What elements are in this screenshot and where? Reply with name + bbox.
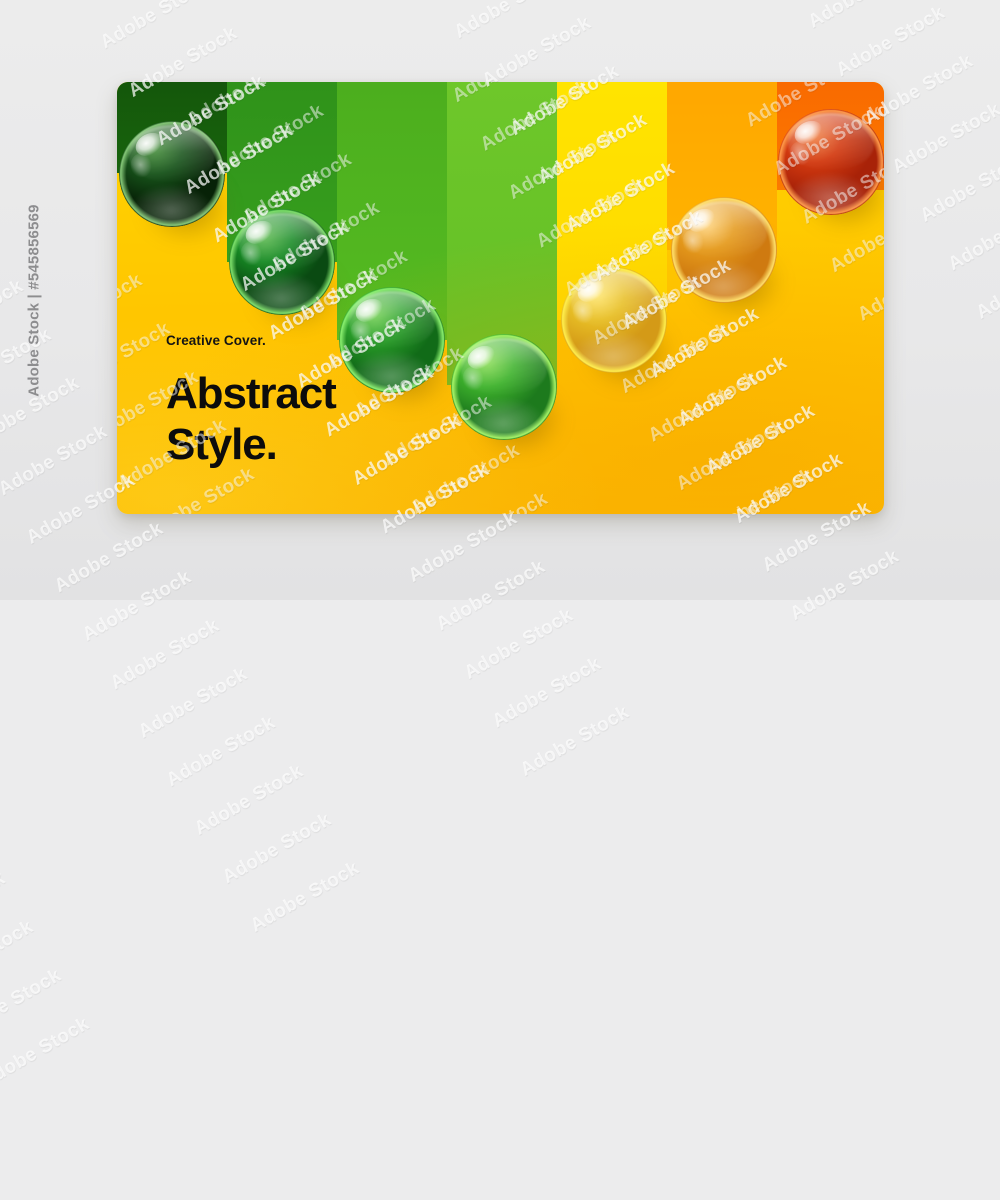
- watermark-text: Adobe Stock: [97, 0, 213, 54]
- watermark-text: Adobe Stock: [0, 1013, 93, 1093]
- watermark-text: Adobe Stock: [673, 416, 789, 496]
- sphere-7-red: [778, 109, 884, 215]
- watermark-text: Adobe Stock: [405, 508, 521, 588]
- watermark-text: Adobe Stock: [436, 488, 552, 514]
- watermark-text: Adobe Stock: [0, 868, 9, 948]
- headline-line-1: Abstract: [166, 369, 336, 418]
- watermark-text: Adobe Stock: [917, 148, 1000, 228]
- watermark-text: Adobe Stock: [787, 546, 903, 626]
- watermark-text: Adobe Stock: [451, 0, 567, 44]
- watermark-text: Adobe Stock: [142, 464, 258, 514]
- cover-text-block: Creative Cover. Abstract Style.: [166, 333, 336, 470]
- watermark-text: Adobe Stock: [117, 270, 147, 350]
- watermark-text: Adobe Stock: [945, 196, 1000, 276]
- sphere-highlight-bounce: [792, 166, 873, 211]
- watermark-text: Adobe Stock: [51, 518, 167, 598]
- watermark-text: Adobe Stock: [882, 295, 884, 375]
- watermark-text: Adobe Stock: [889, 99, 1000, 179]
- sphere-4-light-green: [451, 334, 557, 440]
- sphere-highlight-bounce: [133, 178, 214, 223]
- sphere-highlight-bounce: [243, 266, 324, 311]
- sphere-ball: [778, 109, 884, 215]
- watermark-text: Adobe Stock: [191, 761, 307, 841]
- watermark-text: Adobe Stock: [107, 615, 223, 695]
- watermark-text: Adobe Stock: [0, 965, 65, 1045]
- sphere-highlight-bounce: [575, 324, 656, 369]
- watermark-text: Adobe Stock: [479, 12, 595, 92]
- watermark-text: Adobe Stock: [163, 712, 279, 792]
- watermark-text: Adobe Stock: [0, 916, 37, 996]
- headline-line-2: Style.: [166, 419, 336, 470]
- watermark-text: Adobe Stock: [854, 246, 884, 326]
- stock-photo-page: Adobe StockAdobe StockAdobe StockAdobe S…: [0, 0, 1000, 600]
- sphere-6-amber: [671, 197, 777, 303]
- watermark-text: Adobe Stock: [247, 858, 363, 938]
- sphere-3-green: [339, 287, 445, 393]
- sphere-ball: [229, 209, 335, 315]
- sphere-highlight-bounce: [465, 391, 546, 436]
- adobe-stock-side-caption: Adobe Stock | #545856569: [14, 0, 54, 600]
- sphere-highlight-bounce: [353, 344, 434, 389]
- watermark-text: Adobe Stock: [433, 556, 549, 636]
- watermark-text: Adobe Stock: [517, 702, 633, 782]
- sphere-ball: [339, 287, 445, 393]
- watermark-text: Adobe Stock: [461, 605, 577, 685]
- side-caption-text: Adobe Stock | #545856569: [26, 204, 43, 396]
- sphere-ball: [119, 121, 225, 227]
- watermark-text: Adobe Stock: [701, 464, 817, 514]
- watermark-text: Adobe Stock: [117, 221, 119, 301]
- sphere-5-yellow: [561, 267, 667, 373]
- eyebrow-label: Creative Cover.: [166, 333, 336, 348]
- sphere-2-green: [229, 209, 335, 315]
- watermark-text: Adobe Stock: [489, 653, 605, 733]
- watermark-text: Adobe Stock: [219, 809, 335, 889]
- sphere-highlight-bounce: [685, 254, 766, 299]
- watermark-text: Adobe Stock: [805, 0, 921, 33]
- watermark-text: Adobe Stock: [833, 2, 949, 82]
- watermark-text: Adobe Stock: [170, 512, 286, 514]
- sphere-ball: [451, 334, 557, 440]
- sphere-ball: [671, 197, 777, 303]
- watermark-text: Adobe Stock: [729, 513, 845, 514]
- page-title: Abstract Style.: [166, 368, 336, 470]
- watermark-text: Adobe Stock: [135, 664, 251, 744]
- watermark-text: Adobe Stock: [973, 245, 1000, 325]
- sphere-1-dark-green: [119, 121, 225, 227]
- sphere-ball: [561, 267, 667, 373]
- watermark-text: Adobe Stock: [79, 567, 195, 647]
- cover-card: Creative Cover. Abstract Style. Adobe St…: [117, 82, 884, 514]
